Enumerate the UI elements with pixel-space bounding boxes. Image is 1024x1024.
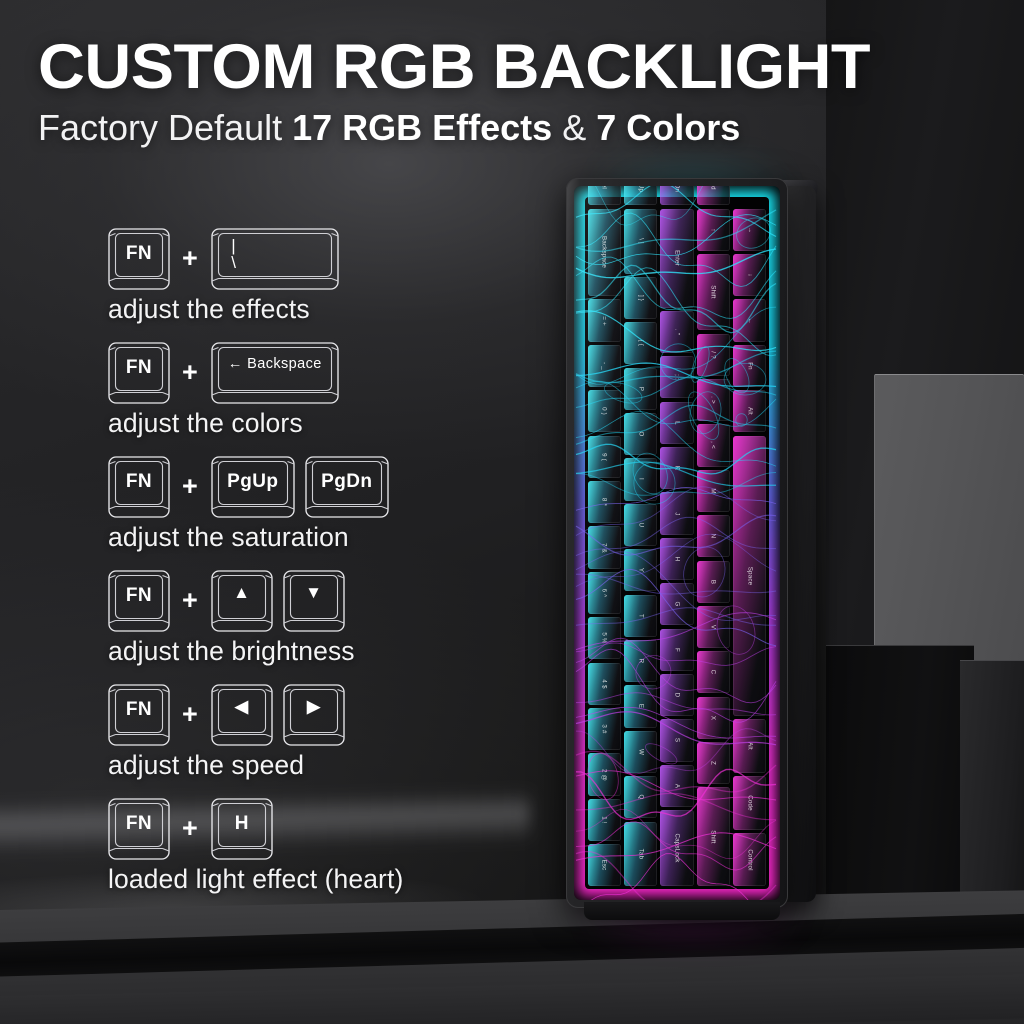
keycap-pgdn[interactable]: PgDn [305,456,389,518]
topo-contour-line [576,638,776,703]
topo-contour-line [576,213,776,286]
shortcut-row-speed: FN+ ◀ ▶adjust the speed [108,684,528,781]
key-combo-saturation: FN+ PgUp PgDn [108,456,528,518]
topo-contour-line [576,534,776,586]
topo-contour-line [576,444,776,474]
topo-contour-line [576,249,776,278]
page-subtitle: Factory Default 17 RGB Effects & 7 Color… [38,107,968,149]
topo-contour-line [576,487,776,536]
key-combo-heart: FN+ H [108,798,528,860]
plus-sign: + [182,359,198,388]
keycap-topographic-pattern [574,186,780,900]
shortcut-caption-colors: adjust the colors [108,408,528,439]
shortcut-row-colors: FN+ ← Backspaceadjust the colors [108,342,528,439]
keycap-h[interactable]: H [211,798,273,860]
keycap-arrow-left[interactable]: ◀ [211,684,273,746]
shortcut-caption-brightness: adjust the brightness [108,636,528,667]
shortcut-caption-speed: adjust the speed [108,750,528,781]
topo-contour-line [576,405,776,444]
topo-contour-island [686,389,725,437]
headline-block: CUSTOM RGB BACKLIGHT Factory Default 17 … [38,34,968,149]
topo-contour-line [576,265,776,332]
topo-contour-line [576,852,776,901]
keyboard-case: Esc1 !2 @3 #4 $5 %6 ^7 &8 *9 (0 )- _= +B… [566,178,788,908]
keycap-fn[interactable]: FN [108,684,170,746]
keycap-arrow-up[interactable]: ▲ [211,570,273,632]
shortcut-row-effects: FN+ |\adjust the effects [108,228,528,325]
keycap-backspace[interactable]: ← Backspace [211,342,339,404]
keyboard-foot [584,902,780,920]
topo-contour-line [576,729,776,774]
page-title: CUSTOM RGB BACKLIGHT [38,34,996,101]
keycap-pipe-backslash[interactable]: |\ [211,228,339,290]
plus-sign: + [182,815,198,844]
keycap-arrow-right[interactable]: ▶ [283,684,345,746]
shortcut-row-saturation: FN+ PgUp PgDnadjust the saturation [108,456,528,553]
plus-sign: + [182,245,198,274]
subtitle-colors-count: 7 Colors [596,107,740,148]
subtitle-separator: & [552,107,596,148]
key-combo-colors: FN+ ← Backspace [108,342,528,404]
shortcut-caption-heart: loaded light effect (heart) [108,864,528,895]
keycap-fn[interactable]: FN [108,798,170,860]
topo-contour-island [631,650,676,694]
topo-contour-island [682,388,725,444]
subtitle-prefix: Factory Default [38,107,292,148]
topo-contour-line [576,268,776,356]
topo-contour-line [576,311,776,352]
shortcut-row-brightness: FN+ ▲ ▼adjust the brightness [108,570,528,667]
plus-sign: + [182,701,198,730]
shortcut-list: FN+ |\adjust the effects FN+ ← Backspace… [108,228,528,912]
key-combo-effects: FN+ |\ [108,228,528,290]
shortcut-row-heart: FN+ Hloaded light effect (heart) [108,798,528,895]
shortcut-caption-saturation: adjust the saturation [108,522,528,553]
topo-contour-line [576,381,776,426]
promo-banner: CUSTOM RGB BACKLIGHT Factory Default 17 … [0,0,1024,1024]
keycap-fn[interactable]: FN [108,570,170,632]
topo-contour-line [576,412,776,467]
topo-contour-line [576,351,776,382]
key-combo-speed: FN+ ◀ ▶ [108,684,528,746]
topo-contour-island [724,363,766,395]
keyboard-plate: Esc1 !2 @3 #4 $5 %6 ^7 &8 *9 (0 )- _= +B… [574,186,780,900]
topo-contour-line [576,307,776,384]
topo-contour-line [576,771,776,800]
topo-contour-line [576,552,776,621]
topo-contour-line [576,643,776,665]
keycap-arrow-down[interactable]: ▼ [283,570,345,632]
topo-contour-line [576,569,776,645]
background-block-light [874,374,1024,674]
keyboard-product-image: Esc1 !2 @3 #4 $5 %6 ^7 &8 *9 (0 )- _= +B… [566,178,816,918]
topo-contour-island [711,601,761,659]
plus-sign: + [182,587,198,616]
topo-contour-line [576,473,776,496]
keycap-fn[interactable]: FN [108,228,170,290]
subtitle-effects-count: 17 RGB Effects [292,107,552,148]
topo-contour-line [576,517,776,555]
keycap-fn[interactable]: FN [108,342,170,404]
plus-sign: + [182,473,198,502]
topo-contour-island [643,740,680,768]
key-combo-brightness: FN+ ▲ ▼ [108,570,528,632]
topo-contour-line [576,608,776,626]
keycap-pgup[interactable]: PgUp [211,456,295,518]
shortcut-caption-effects: adjust the effects [108,294,528,325]
topo-contour-line [576,210,776,251]
topo-contour-line [576,854,776,900]
keycap-fn[interactable]: FN [108,456,170,518]
topo-contour-line [576,186,776,237]
